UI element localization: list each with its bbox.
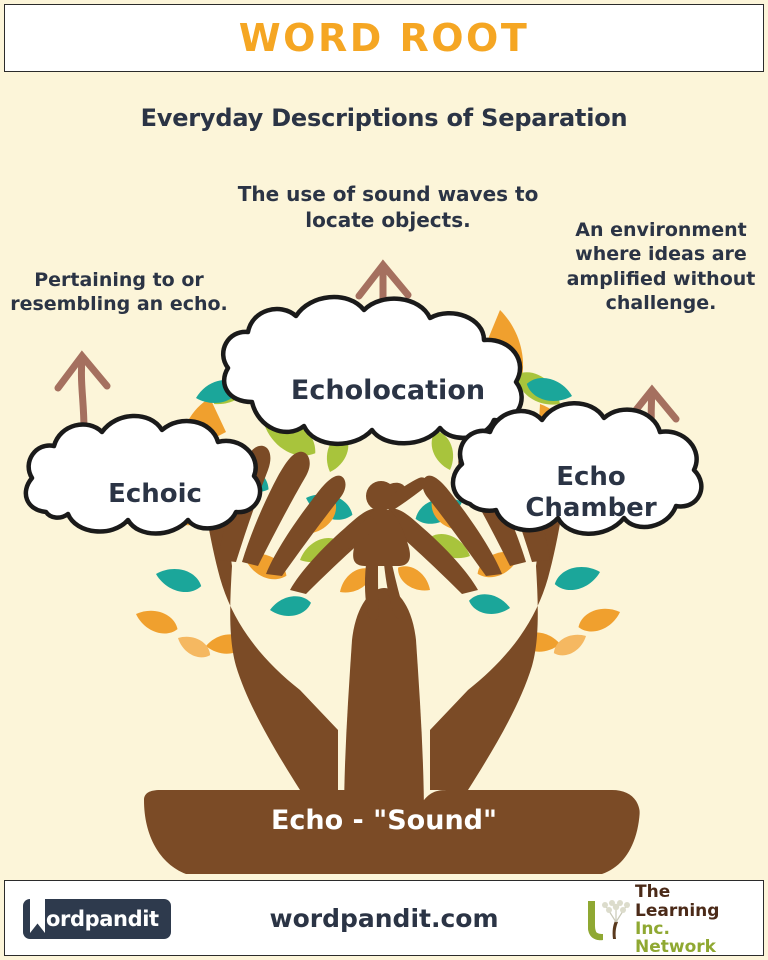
learning-inc-network-text: The Learning Inc. Network (635, 883, 747, 956)
wordpandit-logo[interactable]: ordpandit (23, 899, 171, 939)
footer-bar: wordpandit.com ordpandit (4, 880, 764, 956)
tree-logo-icon (581, 897, 633, 943)
partner-line1: The Learning (635, 883, 747, 920)
root-word-label: Echo - "Sound" (134, 805, 634, 836)
learning-inc-network-logo[interactable]: The Learning Inc. Network (581, 897, 747, 943)
cloud-echolocation (223, 297, 521, 444)
partner-line2: Inc. Network (635, 920, 747, 957)
wordpandit-logo-text: ordpandit (46, 907, 159, 931)
bookmark-icon (23, 899, 49, 939)
cloud-echoic (26, 416, 260, 534)
infographic-poster: WORD ROOT Everyday Descriptions of Separ… (0, 0, 768, 960)
arrow-to-echoic (58, 356, 107, 430)
